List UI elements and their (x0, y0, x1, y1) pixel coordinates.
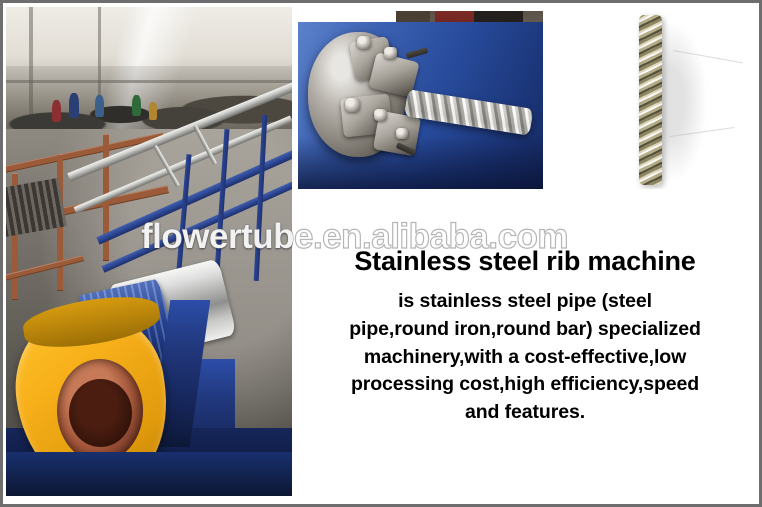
product-title: Stainless steel rib machine (299, 247, 751, 276)
product-shadow (661, 25, 705, 178)
blue-floor-strip (6, 452, 292, 496)
photo-twisted-rib-bar-product (613, 11, 755, 189)
chuck-bolt (384, 47, 397, 59)
product-description-line: machinery,with a cost-effective,low (299, 344, 751, 372)
product-description-line: processing cost,high efficiency,speed (299, 371, 751, 399)
die-bore-inner (69, 379, 132, 447)
chuck-bolt (357, 36, 371, 49)
worker-figure (95, 95, 104, 117)
photo-die-head-closeup (298, 11, 543, 189)
chuck-bolt (374, 109, 387, 121)
twisted-rib-bar (639, 15, 662, 186)
worker-figure (132, 95, 141, 116)
photo-factory-floor-machine (6, 7, 292, 496)
product-description: is stainless steel pipe (steel pipe,roun… (299, 288, 751, 426)
chuck-bolt (396, 128, 408, 139)
product-description-line: and features. (299, 399, 751, 427)
worker-figure (52, 100, 61, 122)
product-description-line: is stainless steel pipe (steel (299, 288, 751, 316)
worker-figure (149, 102, 157, 120)
product-text-block: Stainless steel rib machine is stainless… (299, 247, 751, 427)
chuck-bolt (345, 98, 360, 112)
product-description-line: pipe,round iron,round bar) specialized (299, 316, 751, 344)
product-banner: flowertube.en.alibaba.com flowertube.en.… (0, 0, 762, 507)
worker-figure (69, 93, 79, 118)
